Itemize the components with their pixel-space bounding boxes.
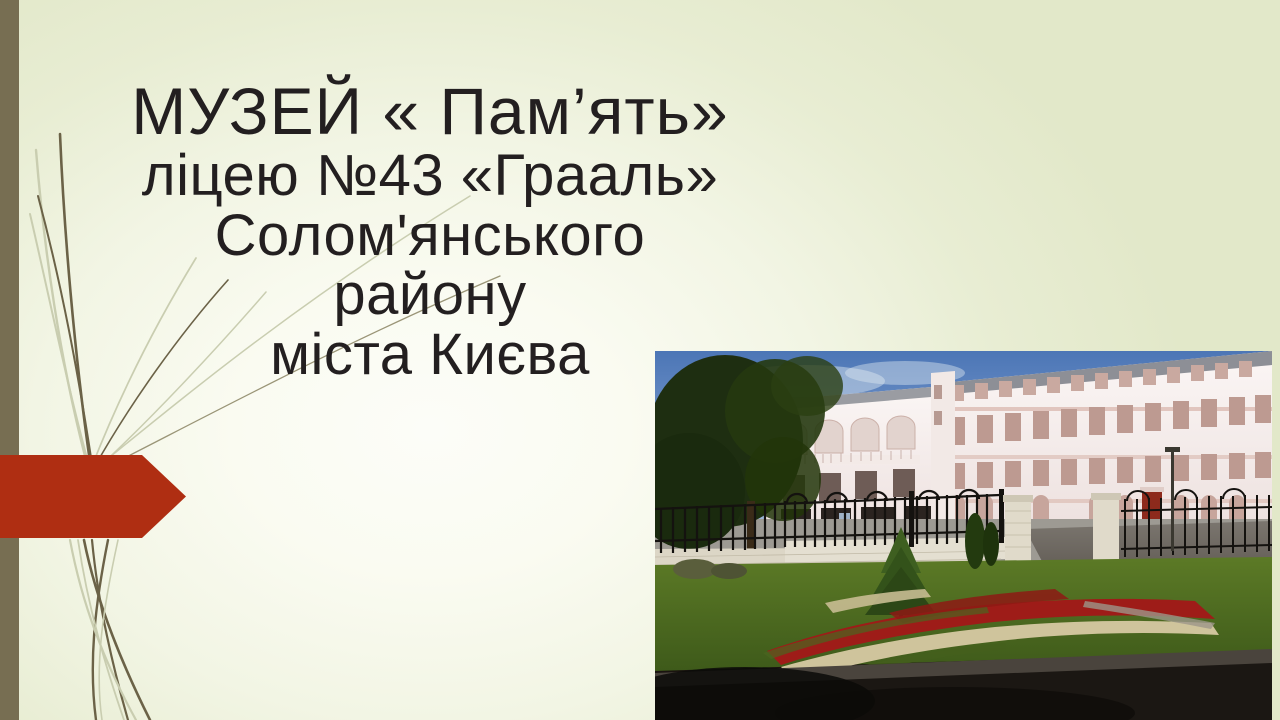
lyceum-building-photo [655, 351, 1272, 720]
title-line-1: МУЗЕЙ « Пам’ять» [70, 78, 790, 146]
presentation-slide: МУЗЕЙ « Пам’ять» ліцею №43 «Грааль» Соло… [0, 0, 1280, 720]
title-line-3: Солом'янського [70, 206, 790, 266]
slide-title: МУЗЕЙ « Пам’ять» ліцею №43 «Грааль» Соло… [70, 78, 790, 385]
lyceum-photo-illustration [655, 351, 1272, 720]
left-accent-bar [0, 0, 19, 720]
title-line-2: ліцею №43 «Грааль» [70, 146, 790, 206]
title-line-4: району [70, 265, 790, 325]
